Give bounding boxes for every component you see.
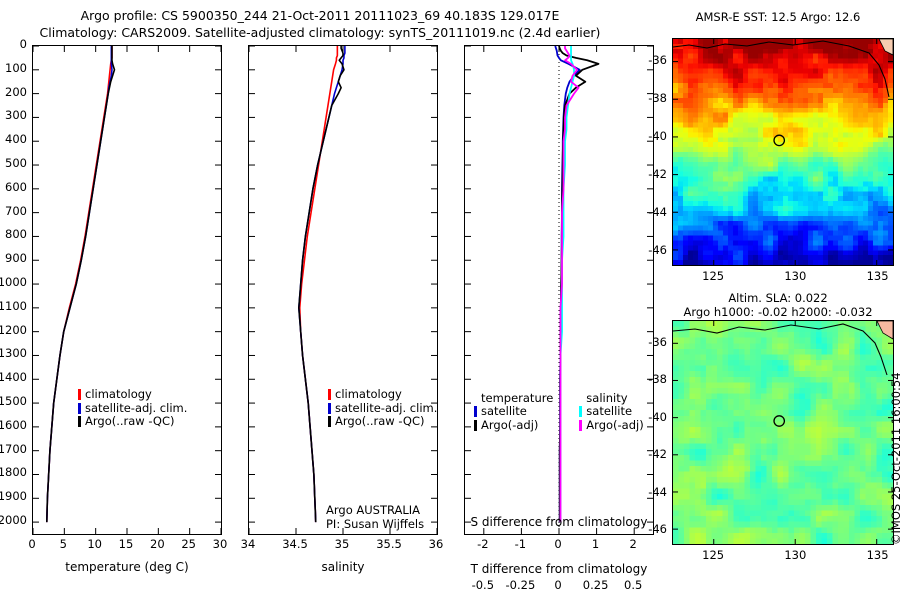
sla-lon-tick-130: 130 [784,548,806,562]
sla-lon-tick-135: 135 [867,548,889,562]
sla-lon-tick-125: 125 [702,548,724,562]
figure-root: Argo profile: CS 5900350_244 21-Oct-2011… [0,0,900,580]
difference-salinity-tick-0: 0 [554,578,561,592]
copyright-container: ©IMOS 25-Oct-2011 16:00:54 [889,545,900,559]
difference-salinity-tick--0.25: -0.25 [506,578,536,592]
difference-salinity-tick-0.25: 0.25 [583,578,609,592]
difference-salinity-tick-0.5: 0.5 [624,578,642,592]
difference-salinity-tick--0.5: -0.5 [472,578,494,592]
copyright-text: ©IMOS 25-Oct-2011 16:00:54 [889,372,900,545]
sla-longitude-ticklabels: 125130135 [0,0,900,580]
